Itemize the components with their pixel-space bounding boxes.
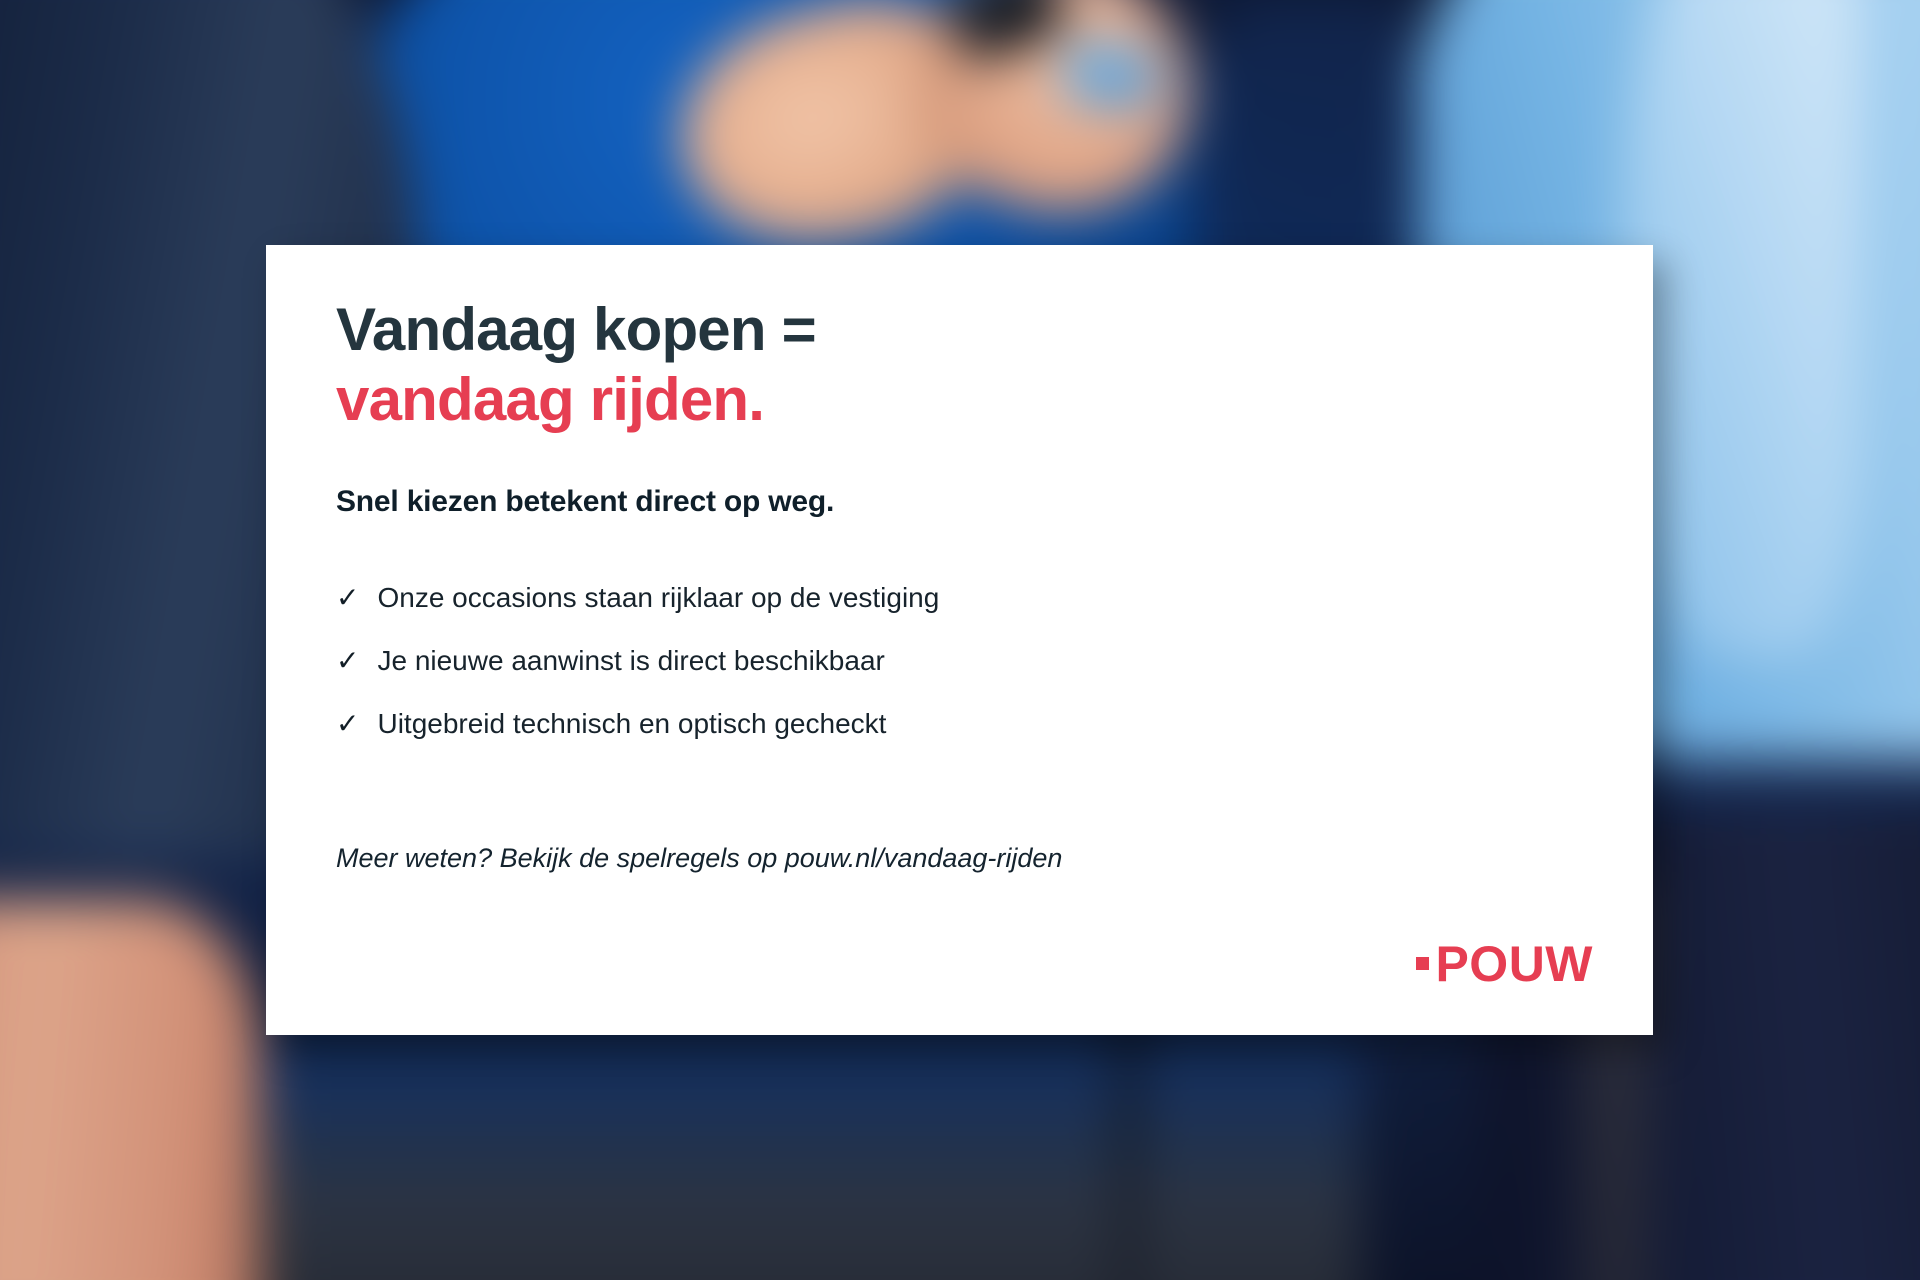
benefit-label: Je nieuwe aanwinst is direct beschikbaar (377, 644, 884, 677)
check-icon: ✓ (336, 584, 359, 612)
pouw-logo: POUW (1416, 939, 1593, 989)
benefit-label: Onze occasions staan rijklaar op de vest… (377, 581, 939, 614)
footnote-link-text[interactable]: Meer weten? Bekijk de spelregels op pouw… (336, 843, 1062, 874)
logo-wordmark: POUW (1435, 939, 1593, 989)
card-content: Vandaag kopen = vandaag rijden. Snel kie… (336, 245, 1593, 1035)
page-title: Vandaag kopen = vandaag rijden. (336, 295, 816, 434)
promo-banner: Vandaag kopen = vandaag rijden. Snel kie… (0, 0, 1920, 1280)
background-trousers-left (0, 900, 260, 1280)
list-item: ✓ Je nieuwe aanwinst is direct beschikba… (336, 644, 939, 677)
list-item: ✓ Uitgebreid technisch en optisch gechec… (336, 707, 939, 740)
logo-dot-icon (1416, 957, 1429, 970)
benefit-label: Uitgebreid technisch en optisch gecheckt (377, 707, 886, 740)
benefits-list: ✓ Onze occasions staan rijklaar op de ve… (336, 581, 939, 770)
background-shirt-fold (1620, 0, 1860, 660)
headline-line-2: vandaag rijden. (336, 365, 816, 435)
check-icon: ✓ (336, 647, 359, 675)
content-card: Vandaag kopen = vandaag rijden. Snel kie… (266, 245, 1653, 1035)
subheadline: Snel kiezen betekent direct op weg. (336, 485, 834, 519)
background-car-trim (1120, 1000, 1138, 1280)
background-car-body (180, 1000, 1360, 1280)
headline-line-1: Vandaag kopen = (336, 296, 816, 363)
list-item: ✓ Onze occasions staan rijklaar op de ve… (336, 581, 939, 614)
check-icon: ✓ (336, 710, 359, 738)
